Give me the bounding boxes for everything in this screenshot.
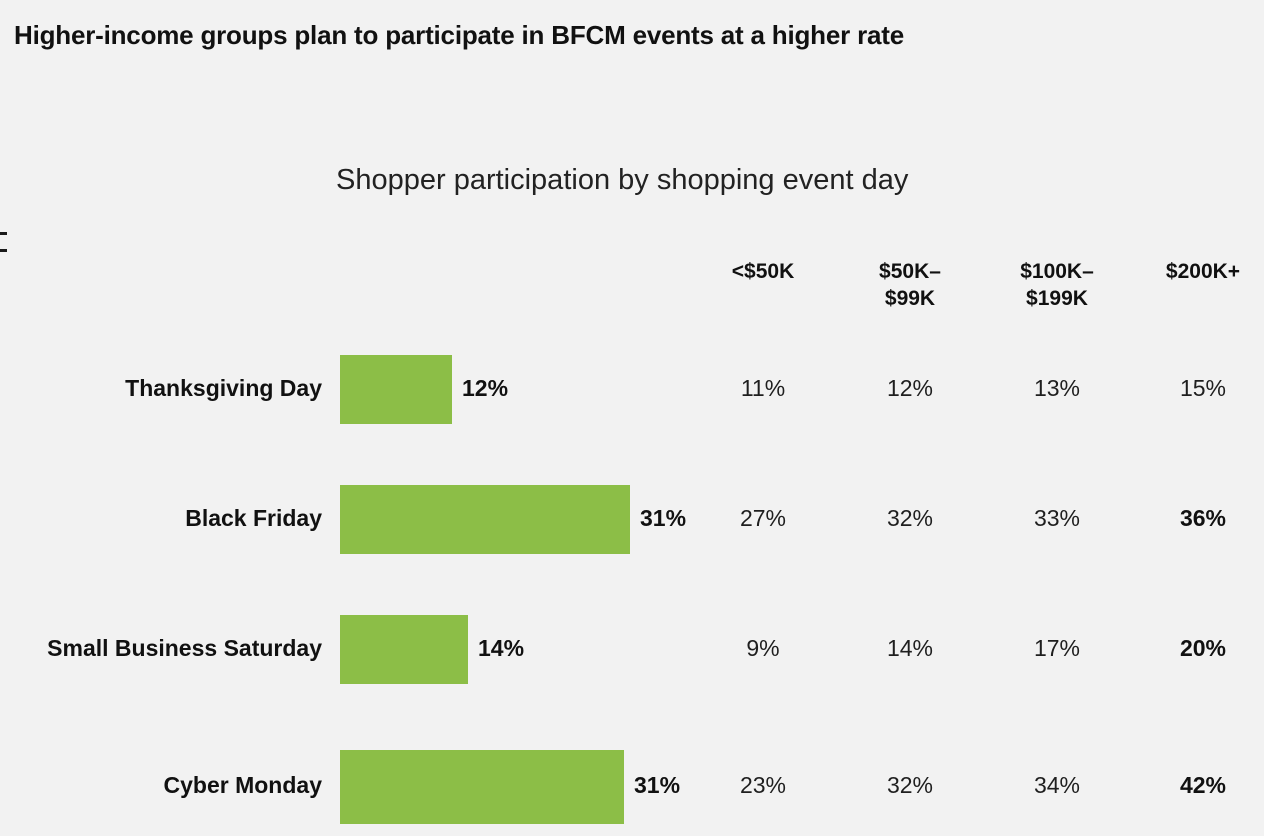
chart-row: Thanksgiving Day12%11%12%13%15% (0, 355, 1264, 424)
data-cell-r1-c3: 13% (982, 375, 1132, 402)
data-cell-r2-c3: 33% (982, 505, 1132, 532)
data-cell-r4-c2: 32% (835, 772, 985, 799)
bar-4 (340, 750, 624, 824)
data-cell-r1-c2: 12% (835, 375, 985, 402)
row-label-1: Thanksgiving Day (0, 375, 322, 402)
column-header-1: <$50K (688, 258, 838, 285)
chart-plot-area: <$50K$50K– $99K$100K– $199K$200K+ Thanks… (0, 0, 1264, 836)
row-label-2: Black Friday (0, 505, 322, 532)
bar-value-label-2: 31% (640, 505, 686, 532)
data-cell-r3-c1: 9% (688, 635, 838, 662)
bar-value-label-3: 14% (478, 635, 524, 662)
data-cell-r2-c2: 32% (835, 505, 985, 532)
data-cell-r4-c4: 42% (1128, 772, 1264, 799)
data-cell-r1-c4: 15% (1128, 375, 1264, 402)
data-cell-r4-c3: 34% (982, 772, 1132, 799)
bar-1 (340, 355, 452, 424)
data-cell-r1-c1: 11% (688, 375, 838, 402)
chart-row: Small Business Saturday14%9%14%17%20% (0, 615, 1264, 684)
row-label-4: Cyber Monday (0, 772, 322, 799)
data-cell-r3-c4: 20% (1128, 635, 1264, 662)
data-cell-r2-c4: 36% (1128, 505, 1264, 532)
row-label-3: Small Business Saturday (0, 635, 322, 662)
bar-3 (340, 615, 468, 684)
bar-value-label-1: 12% (462, 375, 508, 402)
data-cell-r3-c3: 17% (982, 635, 1132, 662)
data-cell-r3-c2: 14% (835, 635, 985, 662)
data-cell-r2-c1: 27% (688, 505, 838, 532)
column-header-3: $100K– $199K (982, 258, 1132, 312)
column-header-2: $50K– $99K (835, 258, 985, 312)
column-header-4: $200K+ (1128, 258, 1264, 285)
bar-2 (340, 485, 630, 554)
bar-value-label-4: 31% (634, 772, 680, 799)
chart-row: Black Friday31%27%32%33%36% (0, 485, 1264, 554)
data-cell-r4-c1: 23% (688, 772, 838, 799)
chart-row: Cyber Monday31%23%32%34%42% (0, 750, 1264, 824)
